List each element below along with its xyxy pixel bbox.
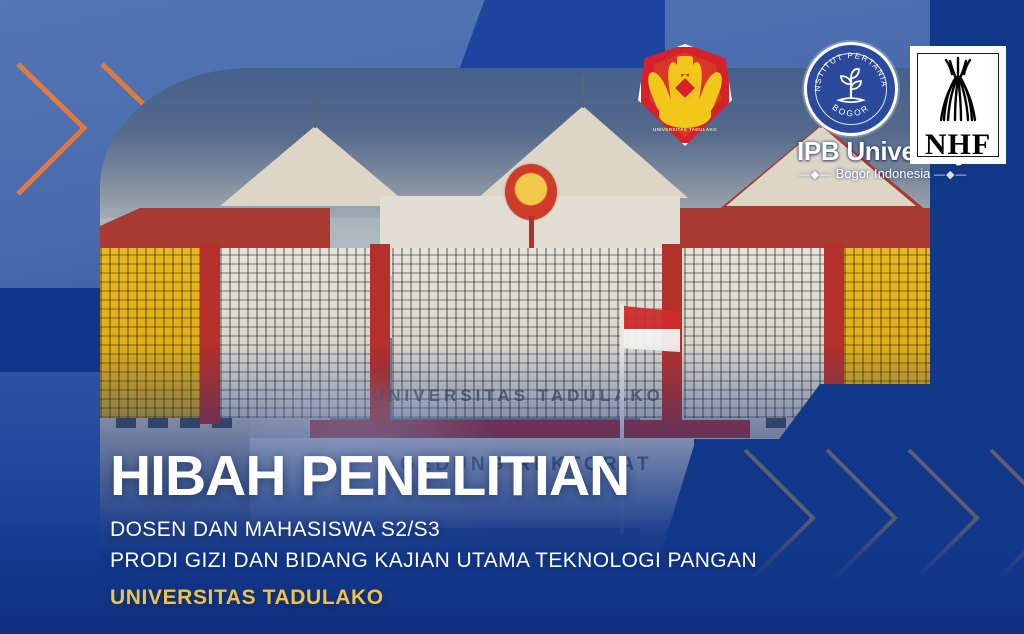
subtitle-line-1: DOSEN DAN MAHASISWA S2/S3 (110, 515, 950, 545)
page-title: HIBAH PENELITIAN (110, 447, 950, 505)
photo-gable-left (220, 126, 410, 206)
nhf-logo: NHF (910, 46, 1006, 164)
photo-spire (314, 96, 316, 128)
ipb-dash-right: —◆— (934, 169, 967, 181)
poster-banner: UNIVERSITAS TADULAKO GEDUNG REKTORAT (0, 0, 1024, 634)
ipb-dash-left: —◆— (799, 169, 832, 181)
ipb-plant-icon (831, 64, 871, 110)
logo-row: UNIVERSITAS TADULAKO INSTITUT PERTANIAN … (638, 38, 1024, 188)
subtitle-line-2: PRODI GIZI DAN BIDANG KAJIAN UTAMA TEKNO… (110, 546, 950, 576)
photo-building-emblem (505, 164, 557, 220)
nhf-wordmark: NHF (925, 130, 991, 160)
ipb-circle-emblem: INSTITUT PERTANIAN BOGOR (804, 42, 898, 136)
ipb-tagline: Bogor Indonesia (836, 166, 931, 181)
tadulako-flame-base (659, 101, 712, 128)
copy-block: HIBAH PENELITIAN DOSEN DAN MAHASISWA S2/… (110, 447, 950, 610)
photo-spire (582, 74, 584, 108)
organization-name: UNIVERSITAS TADULAKO (110, 586, 950, 610)
universitas-tadulako-logo: UNIVERSITAS TADULAKO (638, 44, 732, 146)
ipb-tagline-row: —◆— Bogor Indonesia —◆— (758, 166, 1008, 181)
nhf-wheat-sheaf-icon (928, 56, 988, 128)
photo-roof-right (650, 208, 930, 250)
tadulako-caption: UNIVERSITAS TADULAKO (638, 127, 732, 132)
